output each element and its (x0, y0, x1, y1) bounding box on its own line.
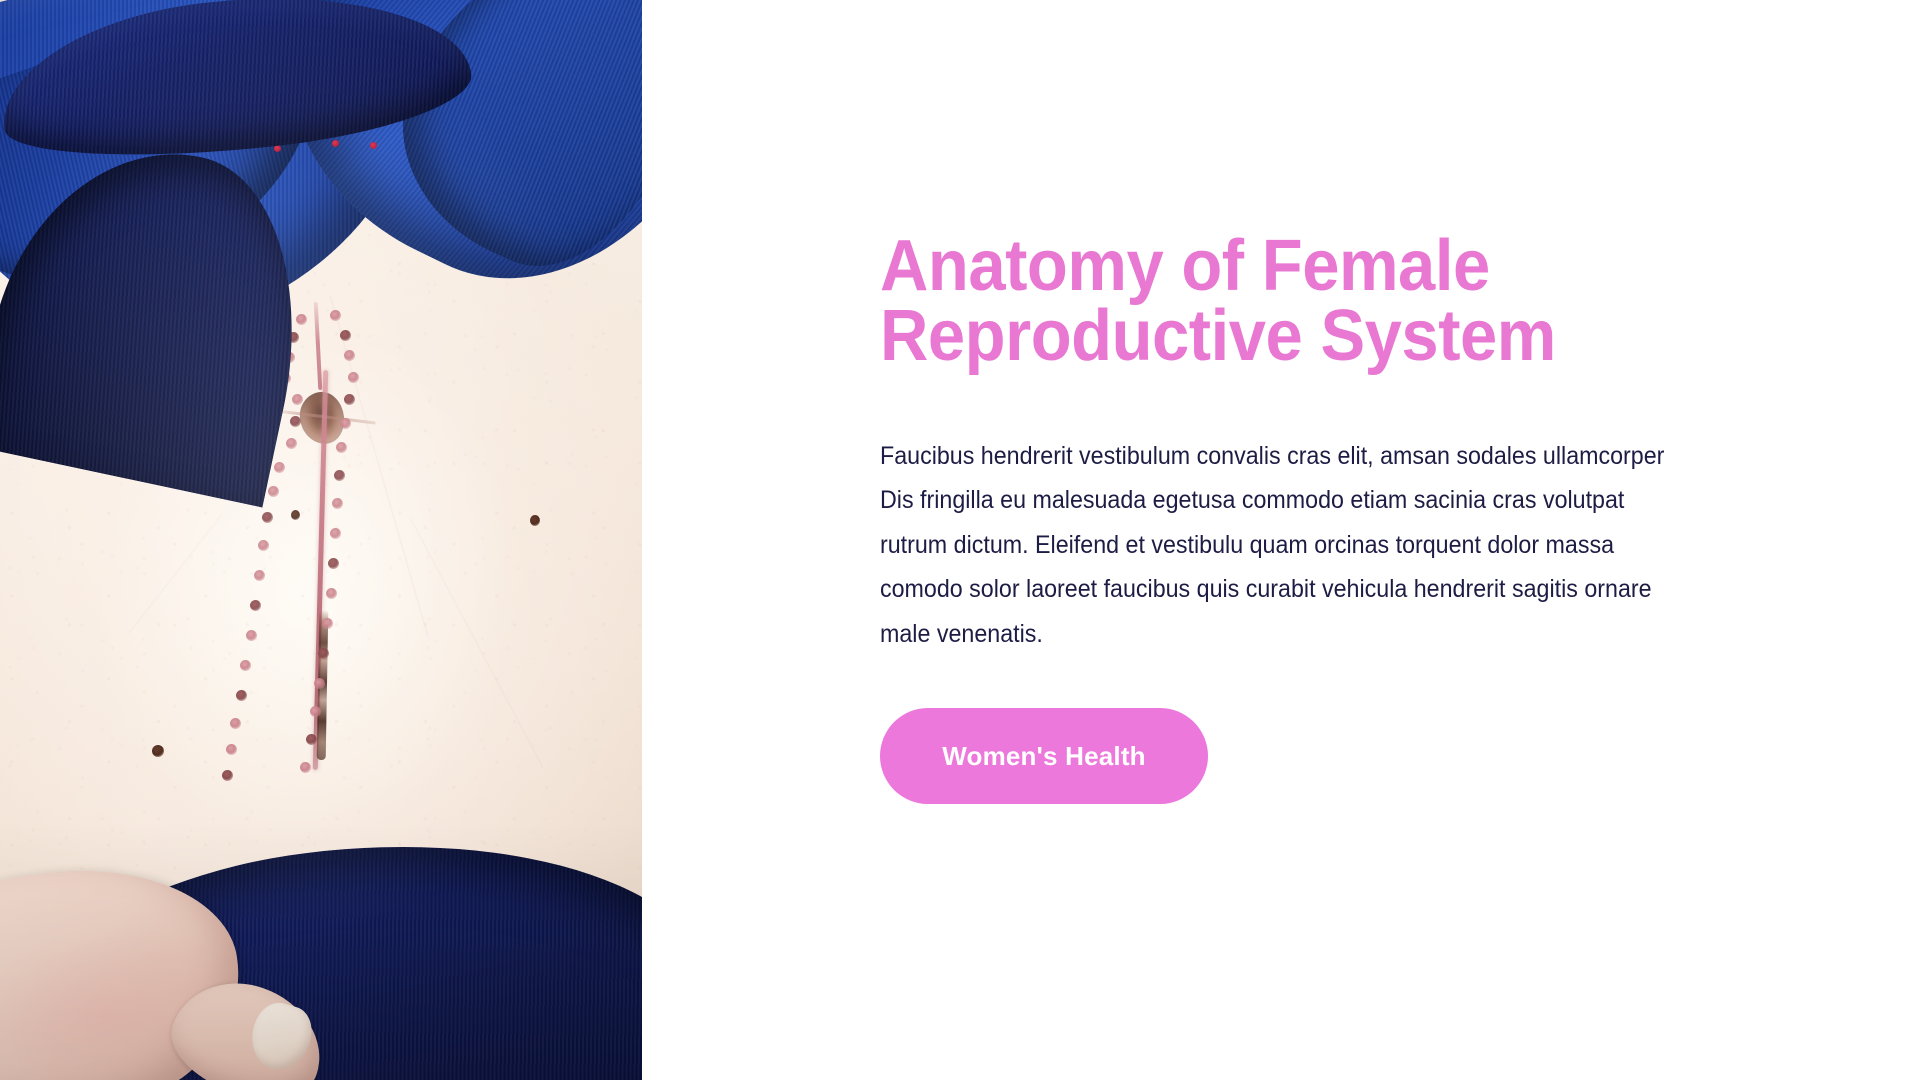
content-block: Anatomy of Female Reproductive System Fa… (880, 232, 1710, 804)
mole (291, 510, 300, 520)
page-title: Anatomy of Female Reproductive System (880, 232, 1587, 372)
marker-dot (332, 140, 339, 147)
marker-dot (370, 142, 377, 149)
slide-root: Anatomy of Female Reproductive System Fa… (0, 0, 1920, 1080)
mole (530, 515, 540, 526)
cta-container: Women's Health (880, 708, 1710, 804)
content-panel: Anatomy of Female Reproductive System Fa… (642, 0, 1920, 1080)
mole (152, 745, 164, 757)
womens-health-button[interactable]: Women's Health (880, 708, 1208, 804)
body-paragraph: Faucibus hendrerit vestibulum convalis c… (880, 434, 1666, 657)
hero-photo (0, 0, 642, 1080)
